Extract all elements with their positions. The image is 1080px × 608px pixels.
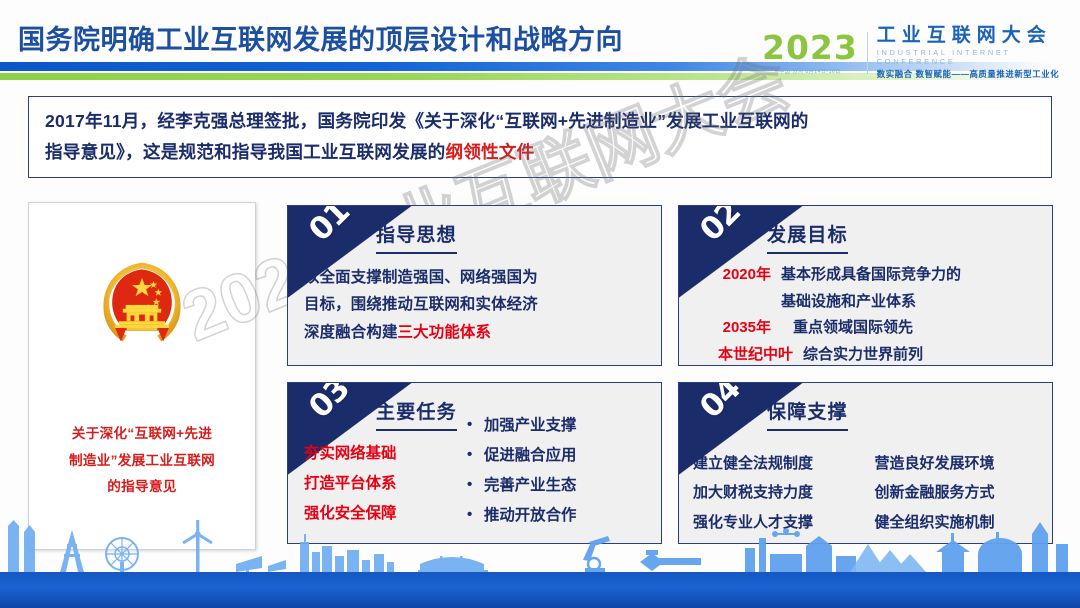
page-title: 国务院明确工业互联网发展的顶层设计和战略方向 [18, 18, 623, 57]
goal-term-3: 2035年 [689, 315, 771, 342]
card01-line-3: 深度融合构建三大功能体系 [304, 319, 649, 346]
goal-text-3: 重点领域国际领先 [771, 315, 913, 342]
task-columns: 夯实网络基础 打造平台体系 强化安全保障 加强产业支撑 促进融合应用 完善产业生… [304, 439, 649, 531]
lead-line-2-text: 指导意见》，这是规范和指导我国工业互联网发展的 [45, 142, 445, 162]
lead-highlight: 纲领性文件 [445, 142, 534, 162]
slide-footer [0, 556, 1080, 608]
lead-line-2: 指导意见》，这是规范和指导我国工业互联网发展的纲领性文件 [45, 137, 1035, 168]
logo-year-block: 2023 中国·苏州 8月14日-16日 [762, 31, 867, 75]
logo-year: 2023 [762, 31, 858, 64]
task-right-2: 促进融合应用 [464, 441, 649, 471]
card-development-goals: 02 发展目标 2020年 基本形成具备国际竞争力的 基础设施和产业体系 203… [678, 205, 1053, 366]
national-emblem-icon [94, 255, 190, 351]
doc-title-line-2: 制造业”发展工业互联网 [45, 448, 239, 475]
card-guiding-thought: 01 指导思想 以全面支撑制造强国、网络强国为 目标，围绕推动互联网和实体经济 … [287, 205, 662, 366]
card01-line-3-text: 深度融合构建 [304, 324, 398, 341]
logo-slogan: 数实融合 数智赋能——高质量推进新型工业化 [877, 68, 1074, 80]
doc-title-line-1: 关于深化“互联网+先进 [45, 421, 239, 448]
card01-line-2: 目标，围绕推动互联网和实体经济 [304, 291, 649, 318]
task-right-3: 完善产业生态 [464, 471, 649, 501]
goal-text-1: 基本形成具备国际竞争力的 [771, 262, 961, 289]
policy-document-title: 关于深化“互联网+先进 制造业”发展工业互联网 的指导意见 [45, 421, 239, 501]
policy-document-card: 关于深化“互联网+先进 制造业”发展工业互联网 的指导意见 [28, 202, 256, 550]
goal-row-4: 本世纪中叶 综合实力世界前列 [689, 342, 1040, 366]
card01-highlight: 三大功能体系 [398, 324, 492, 341]
logo-name-cn: 工业互联网大会 [877, 26, 1074, 47]
card-heading-01: 指导思想 [376, 220, 457, 254]
task-column-right: 加强产业支撑 促进融合应用 完善产业生态 推动开放合作 [464, 411, 649, 531]
logo-name-en: INDUSTRIAL INTERNET CONFERENCE [877, 48, 1074, 66]
task-right-1: 加强产业支撑 [464, 411, 649, 441]
support-left-2: 加大财税支持力度 [693, 478, 859, 507]
conference-logo: 2023 中国·苏州 8月14日-16日 工业互联网大会 INDUSTRIAL … [762, 26, 1074, 80]
card-body-01: 以全面支撑制造强国、网络强国为 目标，围绕推动互联网和实体经济 深度融合构建三大… [304, 264, 649, 357]
slide-root: 国务院明确工业互联网发展的顶层设计和战略方向 2023 中国·苏州 8月14日-… [0, 0, 1080, 608]
lead-statement-box: 2017年11月，经李克强总理签批，国务院印发《关于深化“互联网+先进制造业”发… [28, 96, 1052, 178]
goal-term-4: 本世纪中叶 [689, 342, 793, 366]
goal-term-1: 2020年 [689, 262, 771, 289]
footer-water-band [0, 574, 1080, 608]
task-left-2: 打造平台体系 [304, 469, 454, 499]
logo-date: 中国·苏州 8月14日-16日 [779, 68, 841, 75]
support-right-2: 创新金融服务方式 [875, 478, 1041, 507]
footer-skyline-icon [0, 520, 1080, 578]
task-left-1: 夯实网络基础 [304, 439, 454, 469]
card-heading-04: 保障支撑 [767, 397, 848, 431]
support-right-1: 营造良好发展环境 [875, 449, 1041, 478]
doc-title-line-3: 的指导意见 [45, 474, 239, 501]
card01-line-1: 以全面支撑制造强国、网络强国为 [304, 264, 649, 291]
task-column-left: 夯实网络基础 打造平台体系 强化安全保障 [304, 439, 454, 531]
card-heading-02: 发展目标 [767, 220, 848, 254]
logo-name-block: 工业互联网大会 INDUSTRIAL INTERNET CONFERENCE 数… [868, 26, 1074, 81]
support-left-1: 建立健全法规制度 [693, 449, 859, 478]
goal-row-3: 2035年 重点领域国际领先 [689, 315, 1040, 342]
card-body-02: 2020年 基本形成具备国际竞争力的 基础设施和产业体系 2035年 重点领域国… [689, 262, 1040, 357]
slide-header: 国务院明确工业互联网发展的顶层设计和战略方向 2023 中国·苏州 8月14日-… [0, 0, 1080, 88]
goal-text-4: 综合实力世界前列 [793, 342, 923, 366]
goal-row-1: 2020年 基本形成具备国际竞争力的 [689, 262, 1040, 289]
card-heading-03: 主要任务 [376, 397, 457, 431]
goal-row-2: 基础设施和产业体系 [689, 289, 1040, 316]
lead-line-1: 2017年11月，经李克强总理签批，国务院印发《关于深化“互联网+先进制造业”发… [45, 106, 1035, 137]
